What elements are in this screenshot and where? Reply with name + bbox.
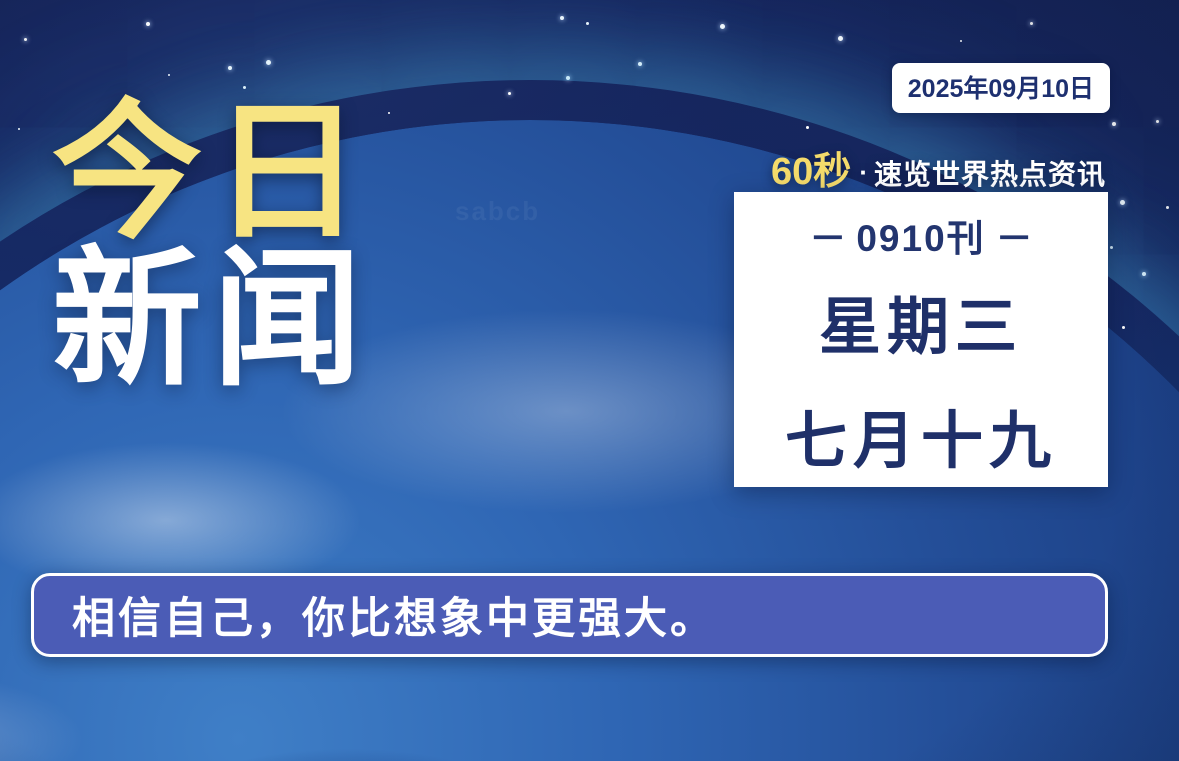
date-badge: 2025年09月10日 <box>892 63 1110 113</box>
news-poster: sabcb 今日 新闻 2025年09月10日 60秒 · 速览世界热点资讯 －… <box>0 0 1179 761</box>
quote-banner: 相信自己，你比想象中更强大。 <box>31 573 1108 657</box>
lunar-date-label: 七月十九 <box>785 390 1057 480</box>
weekday-label: 星期三 <box>819 276 1023 366</box>
issue-number: 0910刊 <box>856 218 985 259</box>
title-line-news: 新闻 <box>52 243 482 396</box>
tagline-duration: 60秒 <box>771 140 851 195</box>
issue-info-card: －0910刊－ 星期三 七月十九 <box>734 192 1108 487</box>
issue-number-row: －0910刊－ <box>799 208 1042 262</box>
issue-dash-left: － <box>809 218 846 259</box>
tagline: 60秒 · 速览世界热点资讯 <box>771 140 1106 195</box>
issue-dash-right: － <box>996 218 1033 259</box>
tagline-text: 速览世界热点资讯 <box>874 153 1106 193</box>
quote-text: 相信自己，你比想象中更强大。 <box>72 584 716 646</box>
page-title: 今日 新闻 <box>52 96 482 396</box>
tagline-separator: · <box>859 157 868 188</box>
title-line-today: 今日 <box>52 96 482 249</box>
